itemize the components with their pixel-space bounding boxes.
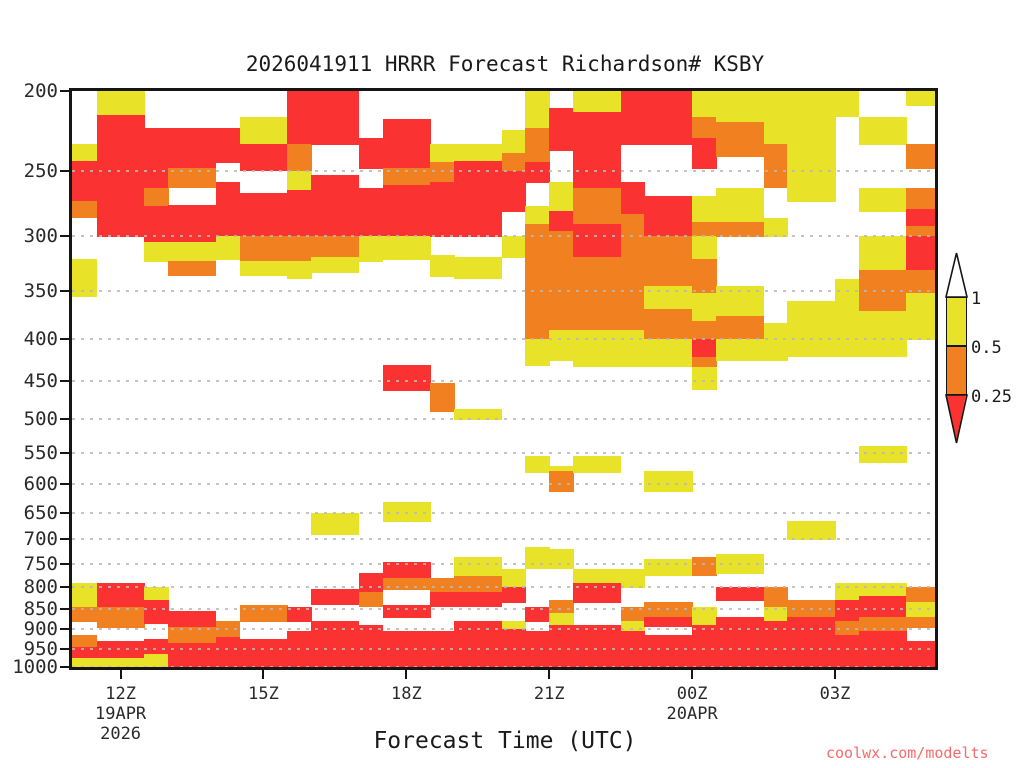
y-axis-tick-mark bbox=[60, 563, 69, 565]
y-axis-tick-label: 350 bbox=[0, 280, 58, 302]
y-axis-tick-label: 250 bbox=[0, 160, 58, 182]
x-axis-tick-mark bbox=[834, 670, 836, 679]
y-axis-tick-mark bbox=[60, 235, 69, 237]
colorbar-segment[interactable] bbox=[946, 297, 967, 346]
y-axis-tick-mark bbox=[60, 666, 69, 668]
y-axis-tick-label: 700 bbox=[0, 528, 58, 550]
x-axis-tick-label: 00Z20APR bbox=[667, 684, 718, 724]
x-axis-tick-mark bbox=[548, 670, 550, 679]
y-axis-tick-label: 850 bbox=[0, 598, 58, 620]
y-axis: 2002503003504004505005506006507007508008… bbox=[0, 0, 1024, 768]
y-axis-tick-label: 400 bbox=[0, 328, 58, 350]
y-axis-tick-label: 200 bbox=[0, 80, 58, 102]
y-axis-tick-label: 450 bbox=[0, 370, 58, 392]
y-axis-tick-mark bbox=[60, 538, 69, 540]
y-axis-tick-label: 300 bbox=[0, 225, 58, 247]
y-axis-tick-mark bbox=[60, 452, 69, 454]
colorbar-arrow-up-outline bbox=[945, 252, 968, 302]
colorbar-label: 0.25 bbox=[971, 387, 1012, 407]
y-axis-tick-mark bbox=[60, 380, 69, 382]
y-axis-tick-mark bbox=[60, 586, 69, 588]
y-axis-tick-label: 650 bbox=[0, 502, 58, 524]
y-axis-tick-label: 550 bbox=[0, 442, 58, 464]
y-axis-tick-mark bbox=[60, 418, 69, 420]
x-axis-tick-label: 15Z bbox=[248, 684, 279, 704]
y-axis-tick-mark bbox=[60, 338, 69, 340]
y-axis-tick-label: 600 bbox=[0, 473, 58, 495]
y-axis-tick-mark bbox=[60, 608, 69, 610]
y-axis-tick-mark bbox=[60, 512, 69, 514]
y-axis-tick-mark bbox=[60, 483, 69, 485]
colorbar-segment[interactable] bbox=[946, 346, 967, 395]
x-axis-tick-label: 21Z bbox=[534, 684, 565, 704]
y-axis-tick-label: 800 bbox=[0, 576, 58, 598]
y-axis-tick-mark bbox=[60, 290, 69, 292]
x-axis-tick-mark bbox=[405, 670, 407, 679]
x-axis-tick-label: 03Z bbox=[820, 684, 851, 704]
x-axis-tick-label: 18Z bbox=[391, 684, 422, 704]
y-axis-tick-mark bbox=[60, 170, 69, 172]
x-axis-tick-mark bbox=[262, 670, 264, 679]
colorbar-label: 0.5 bbox=[971, 338, 1002, 358]
chart-canvas: 2026041911 HRRR Forecast Richardson# KSB… bbox=[0, 0, 1024, 768]
y-axis-tick-mark bbox=[60, 628, 69, 630]
y-axis-tick-mark bbox=[60, 90, 69, 92]
x-axis-tick-mark bbox=[120, 670, 122, 679]
x-axis-tick-mark bbox=[691, 670, 693, 679]
y-axis-tick-label: 750 bbox=[0, 553, 58, 575]
watermark: coolwx.com/modelts bbox=[826, 744, 989, 762]
colorbar-label: 1 bbox=[971, 289, 981, 309]
colorbar-arrow-down-outline bbox=[945, 394, 968, 448]
y-axis-tick-mark bbox=[60, 648, 69, 650]
y-axis-tick-label: 500 bbox=[0, 408, 58, 430]
y-axis-tick-label: 1000 bbox=[0, 656, 58, 678]
